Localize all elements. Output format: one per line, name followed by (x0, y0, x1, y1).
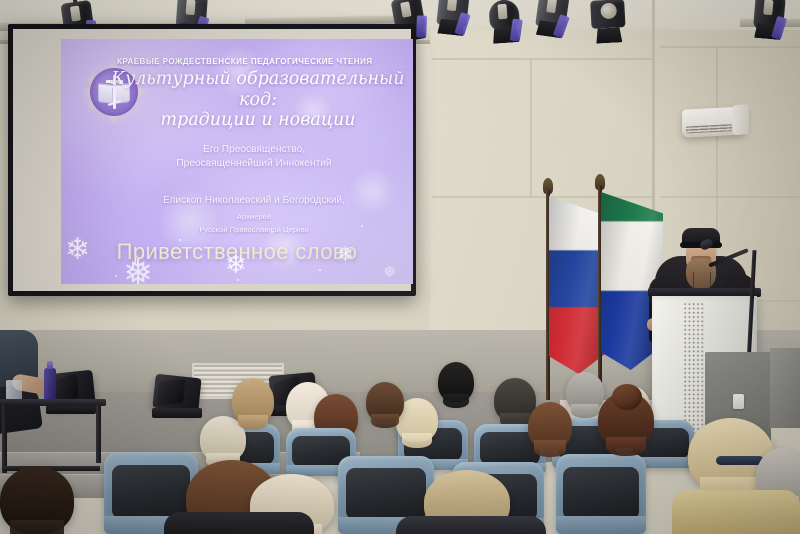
attendee-head (366, 382, 404, 422)
attendee-head (438, 362, 474, 402)
table-leg (96, 405, 101, 463)
attendee-shoulders (164, 512, 314, 534)
hair-bun (612, 384, 642, 410)
wall-panel-seam (432, 58, 652, 60)
attendee-shoulders (396, 516, 546, 534)
attendee-shoulders (672, 490, 800, 534)
slide-subtitle-line4: Архиерей (101, 212, 407, 221)
snowflake-icon: ❄ (337, 245, 354, 265)
snowflake-icon: ❄ (65, 235, 90, 265)
side-cabinet (770, 348, 800, 428)
attendee-head (0, 466, 74, 534)
slide-subtitle-block: Его Преосвященство, Преосвященнейший Инн… (101, 143, 407, 171)
wall-mounted-air-conditioner (682, 106, 747, 137)
table-leg (2, 405, 7, 473)
water-bottle (44, 368, 56, 402)
wall-light-switch[interactable] (733, 394, 744, 409)
slide-subtitle-line1: Его Преосвященство, (101, 143, 407, 157)
attendee-head (528, 402, 572, 450)
wall-panel-seam (660, 196, 800, 198)
attendee-head (232, 378, 274, 424)
snowflake-icon: ❄ (225, 251, 247, 277)
lectern-perforation-pattern (683, 302, 705, 434)
side-table (0, 399, 106, 406)
screen-surface: КРАЕВЫЕ РОЖДЕСТВЕНСКИЕ ПЕДАГОГИЧЕСКИЕ ЧТ… (13, 29, 411, 291)
attendee-head (566, 372, 604, 412)
hair-scrunchie (716, 456, 764, 465)
presentation-slide: КРАЕВЫЕ РОЖДЕСТВЕНСКИЕ ПЕДАГОГИЧЕСКИЕ ЧТ… (61, 39, 413, 284)
snowflake-icon: ❅ (123, 255, 153, 284)
projection-screen: КРАЕВЫЕ РОЖДЕСТВЕНСКИЕ ПЕДАГОГИЧЕСКИЕ ЧТ… (8, 24, 416, 296)
wall-panel-seam (432, 196, 652, 198)
bokeh-light (349, 167, 397, 215)
floor-monitor-speaker (152, 374, 201, 413)
auditorium-seat[interactable] (556, 454, 646, 534)
slide-kicker: КРАЕВЫЕ РОЖДЕСТВЕНСКИЕ ПЕДАГОГИЧЕСКИЕ ЧТ… (117, 57, 409, 66)
monitor-base (152, 408, 202, 418)
snowflake-icon: ❅ (383, 265, 396, 281)
slide-subtitle-line2: Преосвященнейший Иннокентий (101, 157, 407, 171)
slide-title-line1: Культурный образовательный код: (111, 69, 404, 110)
conference-hall-photograph: КРАЕВЫЕ РОЖДЕСТВЕНСКИЕ ПЕДАГОГИЧЕСКИЕ ЧТ… (0, 0, 800, 534)
slide-title: Культурный образовательный код: традиции… (105, 69, 411, 131)
wall-panel-seam (530, 58, 532, 198)
slide-subtitle-line3: Епископ Николаевский и Богородский, (101, 195, 407, 206)
slide-title-line2: традиции и новации (105, 110, 411, 131)
wall-panel-seam (660, 46, 800, 48)
